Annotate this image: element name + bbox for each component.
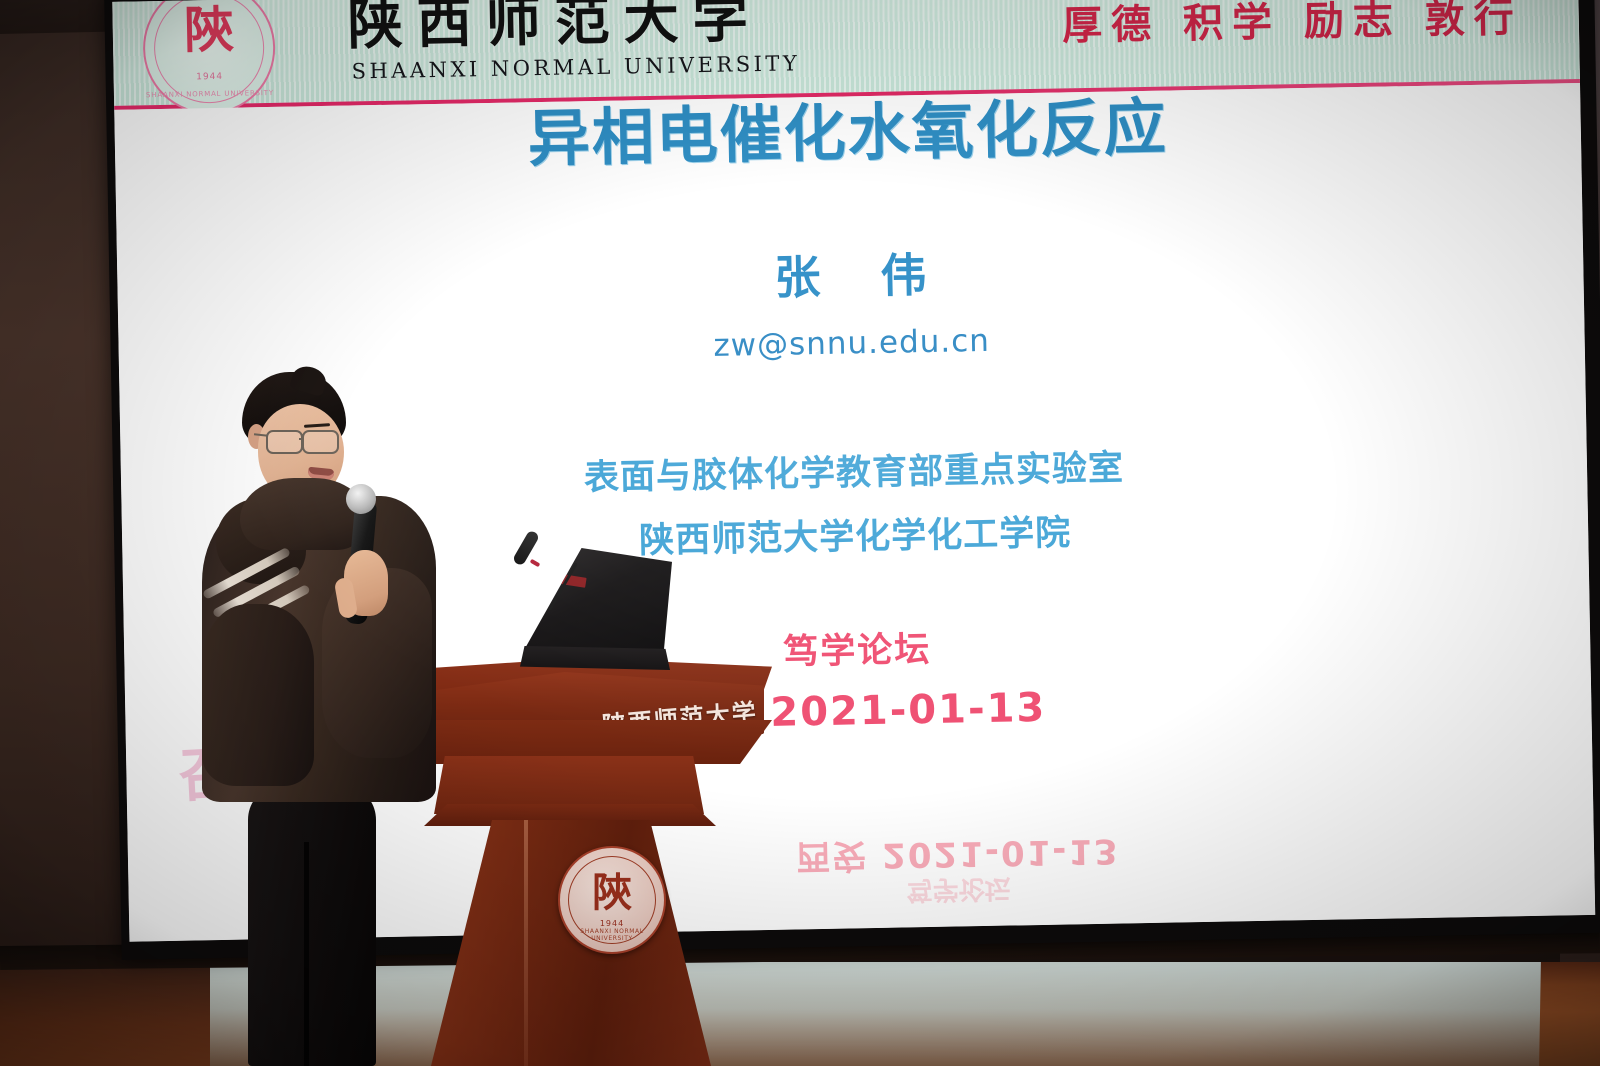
slide-reflection-forum: 笃学论坛 — [748, 869, 1169, 914]
podium-seal-year: 1944 — [560, 919, 664, 928]
podium-seal-arc-text: SHAANXI NORMAL UNIVERSITY — [560, 928, 664, 942]
seal-character: 陝 — [144, 1, 273, 59]
laptop-base — [520, 646, 670, 670]
university-name-cn: 陕西师范大学 — [347, 0, 762, 56]
podium-seal-character: 陝 — [560, 870, 664, 916]
lecture-hall-photo: 陝 1944 SHAANXI NORMAL UNIVERSITY 陕西师范大学 … — [0, 0, 1600, 1066]
university-motto: 厚德 积学 励志 敦行 — [1062, 0, 1524, 54]
podium-seal-icon: 陝 1944 SHAANXI NORMAL UNIVERSITY — [558, 846, 666, 954]
podium-column-highlight — [524, 820, 528, 1066]
speaker-person — [196, 372, 456, 1066]
seal-year: 1944 — [146, 71, 274, 83]
speaker-glasses-left-lens — [266, 430, 303, 454]
thinkpad-laptop — [516, 548, 696, 680]
podium-column — [430, 820, 712, 1066]
speaker-leg-seam — [304, 842, 309, 1066]
speaker-glasses-bridge — [299, 438, 304, 440]
speaker-glasses-right-lens — [302, 430, 339, 454]
speaker-legs — [248, 790, 376, 1066]
speaker-left-arm — [202, 604, 314, 786]
floor-left-shadow — [0, 962, 210, 1066]
gooseneck-microphone-ring — [530, 559, 541, 567]
